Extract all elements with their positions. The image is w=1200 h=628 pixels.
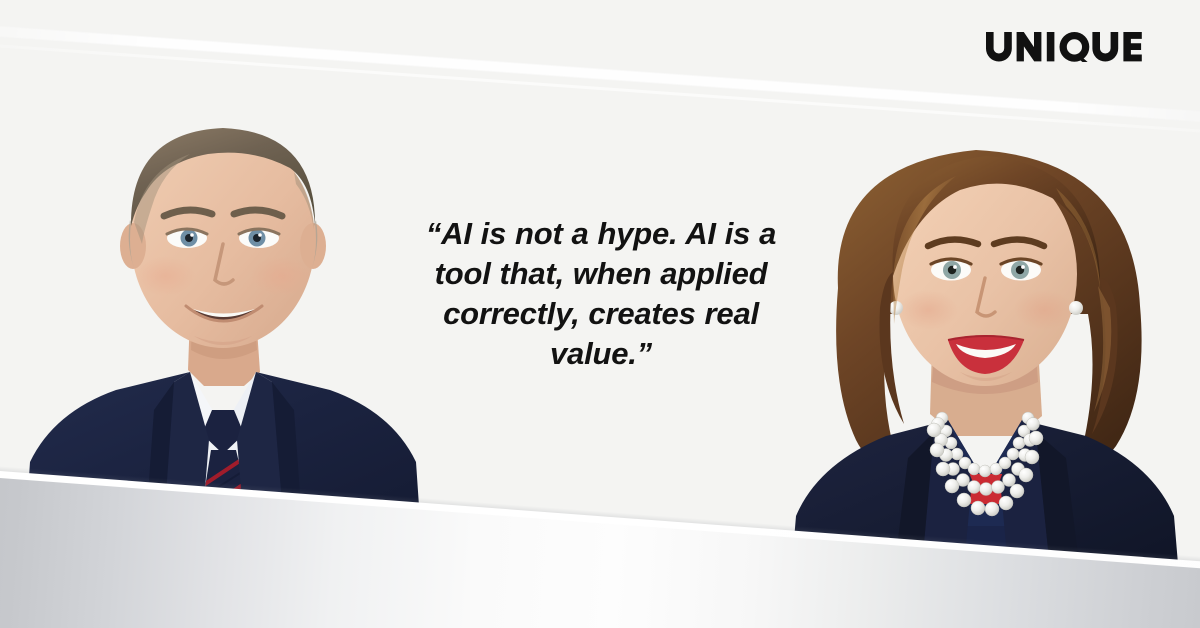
unique-logo-wordmark xyxy=(986,32,1142,62)
quote-card: “AI is not a hype. AI is a tool that, wh… xyxy=(0,0,1200,628)
quote-text: “AI is not a hype. AI is a tool that, wh… xyxy=(395,214,807,374)
bottom-diagonal-band xyxy=(0,438,1200,628)
unique-logo xyxy=(986,32,1142,62)
